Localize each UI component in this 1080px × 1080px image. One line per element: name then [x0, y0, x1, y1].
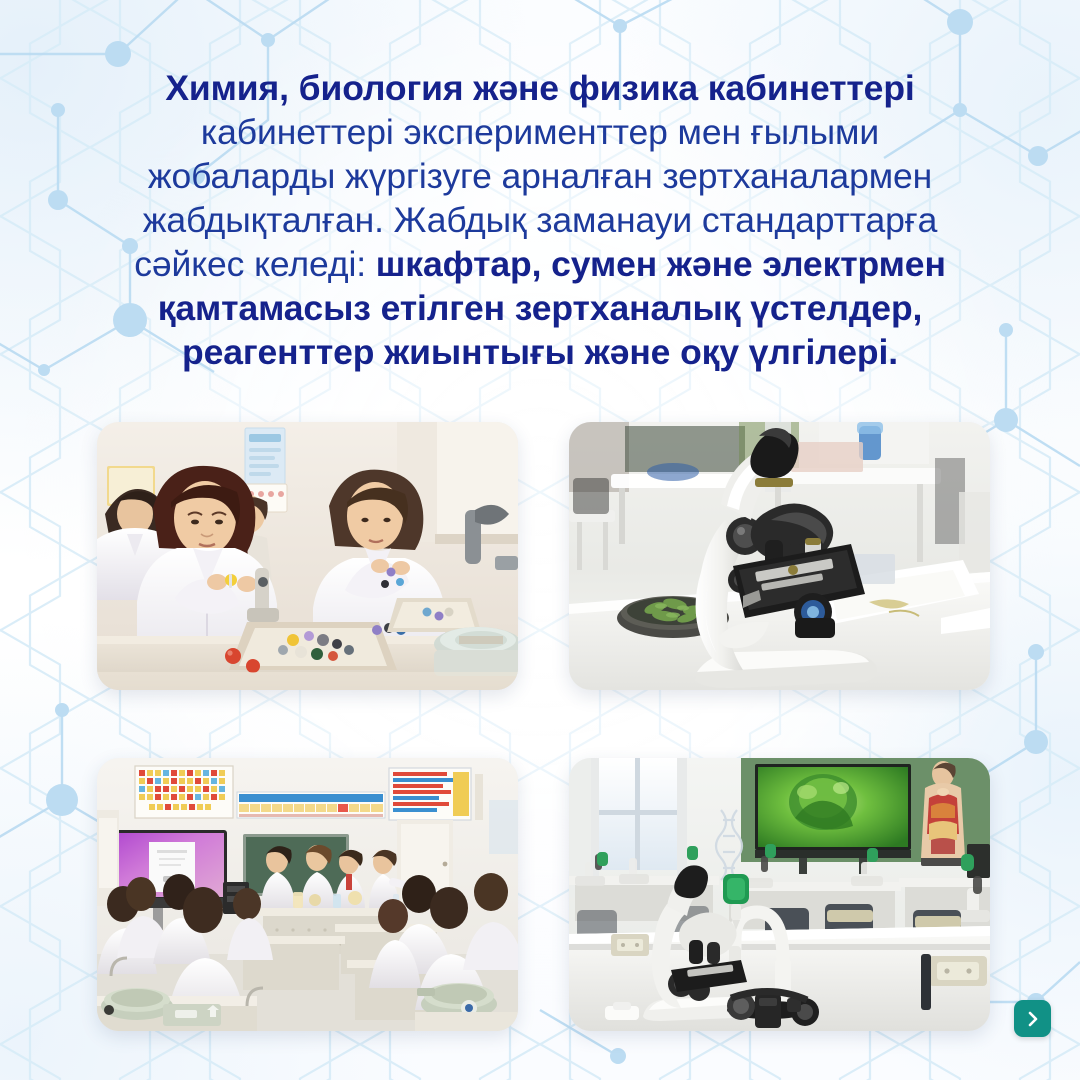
- headline-line-4: жабдықталған. Жабдық заманауи стандартта…: [70, 198, 1010, 242]
- headline-line-7: реагенттер жиынтығы және оқу үлгілері.: [70, 330, 1010, 374]
- headline-line-5: сәйкес келеді: шкафтар, сумен және элект…: [70, 242, 1010, 286]
- headline-line-5-regular: сәйкес келеді:: [134, 244, 376, 284]
- headline-line-1: Химия, биология және физика кабинеттері: [70, 66, 1010, 110]
- slide-canvas: Химия, биология және физика кабинеттері …: [0, 0, 1080, 1080]
- photo-microscope-closeup[interactable]: [569, 422, 990, 690]
- photo-gallery: [97, 422, 990, 1031]
- photo-chemistry-classroom[interactable]: [97, 758, 518, 1031]
- photo-biology-lab-benches[interactable]: [569, 758, 990, 1031]
- headline-line-2: кабинеттері эксперименттер мен ғылыми: [70, 110, 1010, 154]
- next-slide-button[interactable]: [1014, 1000, 1051, 1037]
- headline-line-5-bold: шкафтар, сумен және электрмен: [376, 244, 946, 284]
- headline-line-3: жобаларды жүргізуге арналған зертханалар…: [70, 154, 1010, 198]
- photo-students-molecular-models[interactable]: [97, 422, 518, 690]
- chevron-right-icon: [1024, 1010, 1042, 1028]
- headline-block: Химия, биология және физика кабинеттері …: [70, 66, 1010, 374]
- headline-line-6: қамтамасыз етілген зертханалық үстелдер,: [70, 286, 1010, 330]
